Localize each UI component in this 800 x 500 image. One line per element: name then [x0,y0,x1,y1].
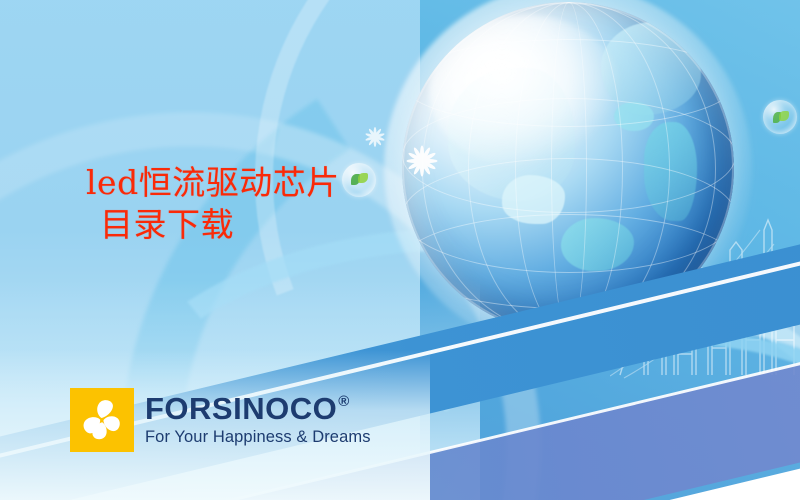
logo-text-block: FORSINOCO ® For Your Happiness & Dreams [145,393,371,446]
four-petal-pinwheel-icon [70,388,134,452]
starburst-flower-icon [364,126,386,148]
brand-logo: FORSINOCO ® For Your Happiness & Dreams [70,388,371,452]
logo-wordmark: FORSINOCO [145,393,337,424]
bubble-with-leaf-icon [763,100,797,134]
earth-globe-icon [402,2,734,334]
headline-line-1: led恒流驱动芯片 [86,162,416,204]
logo-tagline: For Your Happiness & Dreams [145,428,371,446]
logo-wordmark-row: FORSINOCO ® [145,393,371,424]
registered-trademark-icon: ® [338,394,350,409]
headline: led恒流驱动芯片 目录下载 [86,162,416,246]
headline-line-2: 目录下载 [86,204,416,246]
ribbon-teal-accent-secondary [598,485,800,500]
promo-banner: led恒流驱动芯片 目录下载 FORSINOCO ® For Your Happ… [0,0,800,500]
ribbon-teal-accent [557,428,800,500]
globe-rim [402,2,734,334]
globe-sphere [402,2,734,334]
